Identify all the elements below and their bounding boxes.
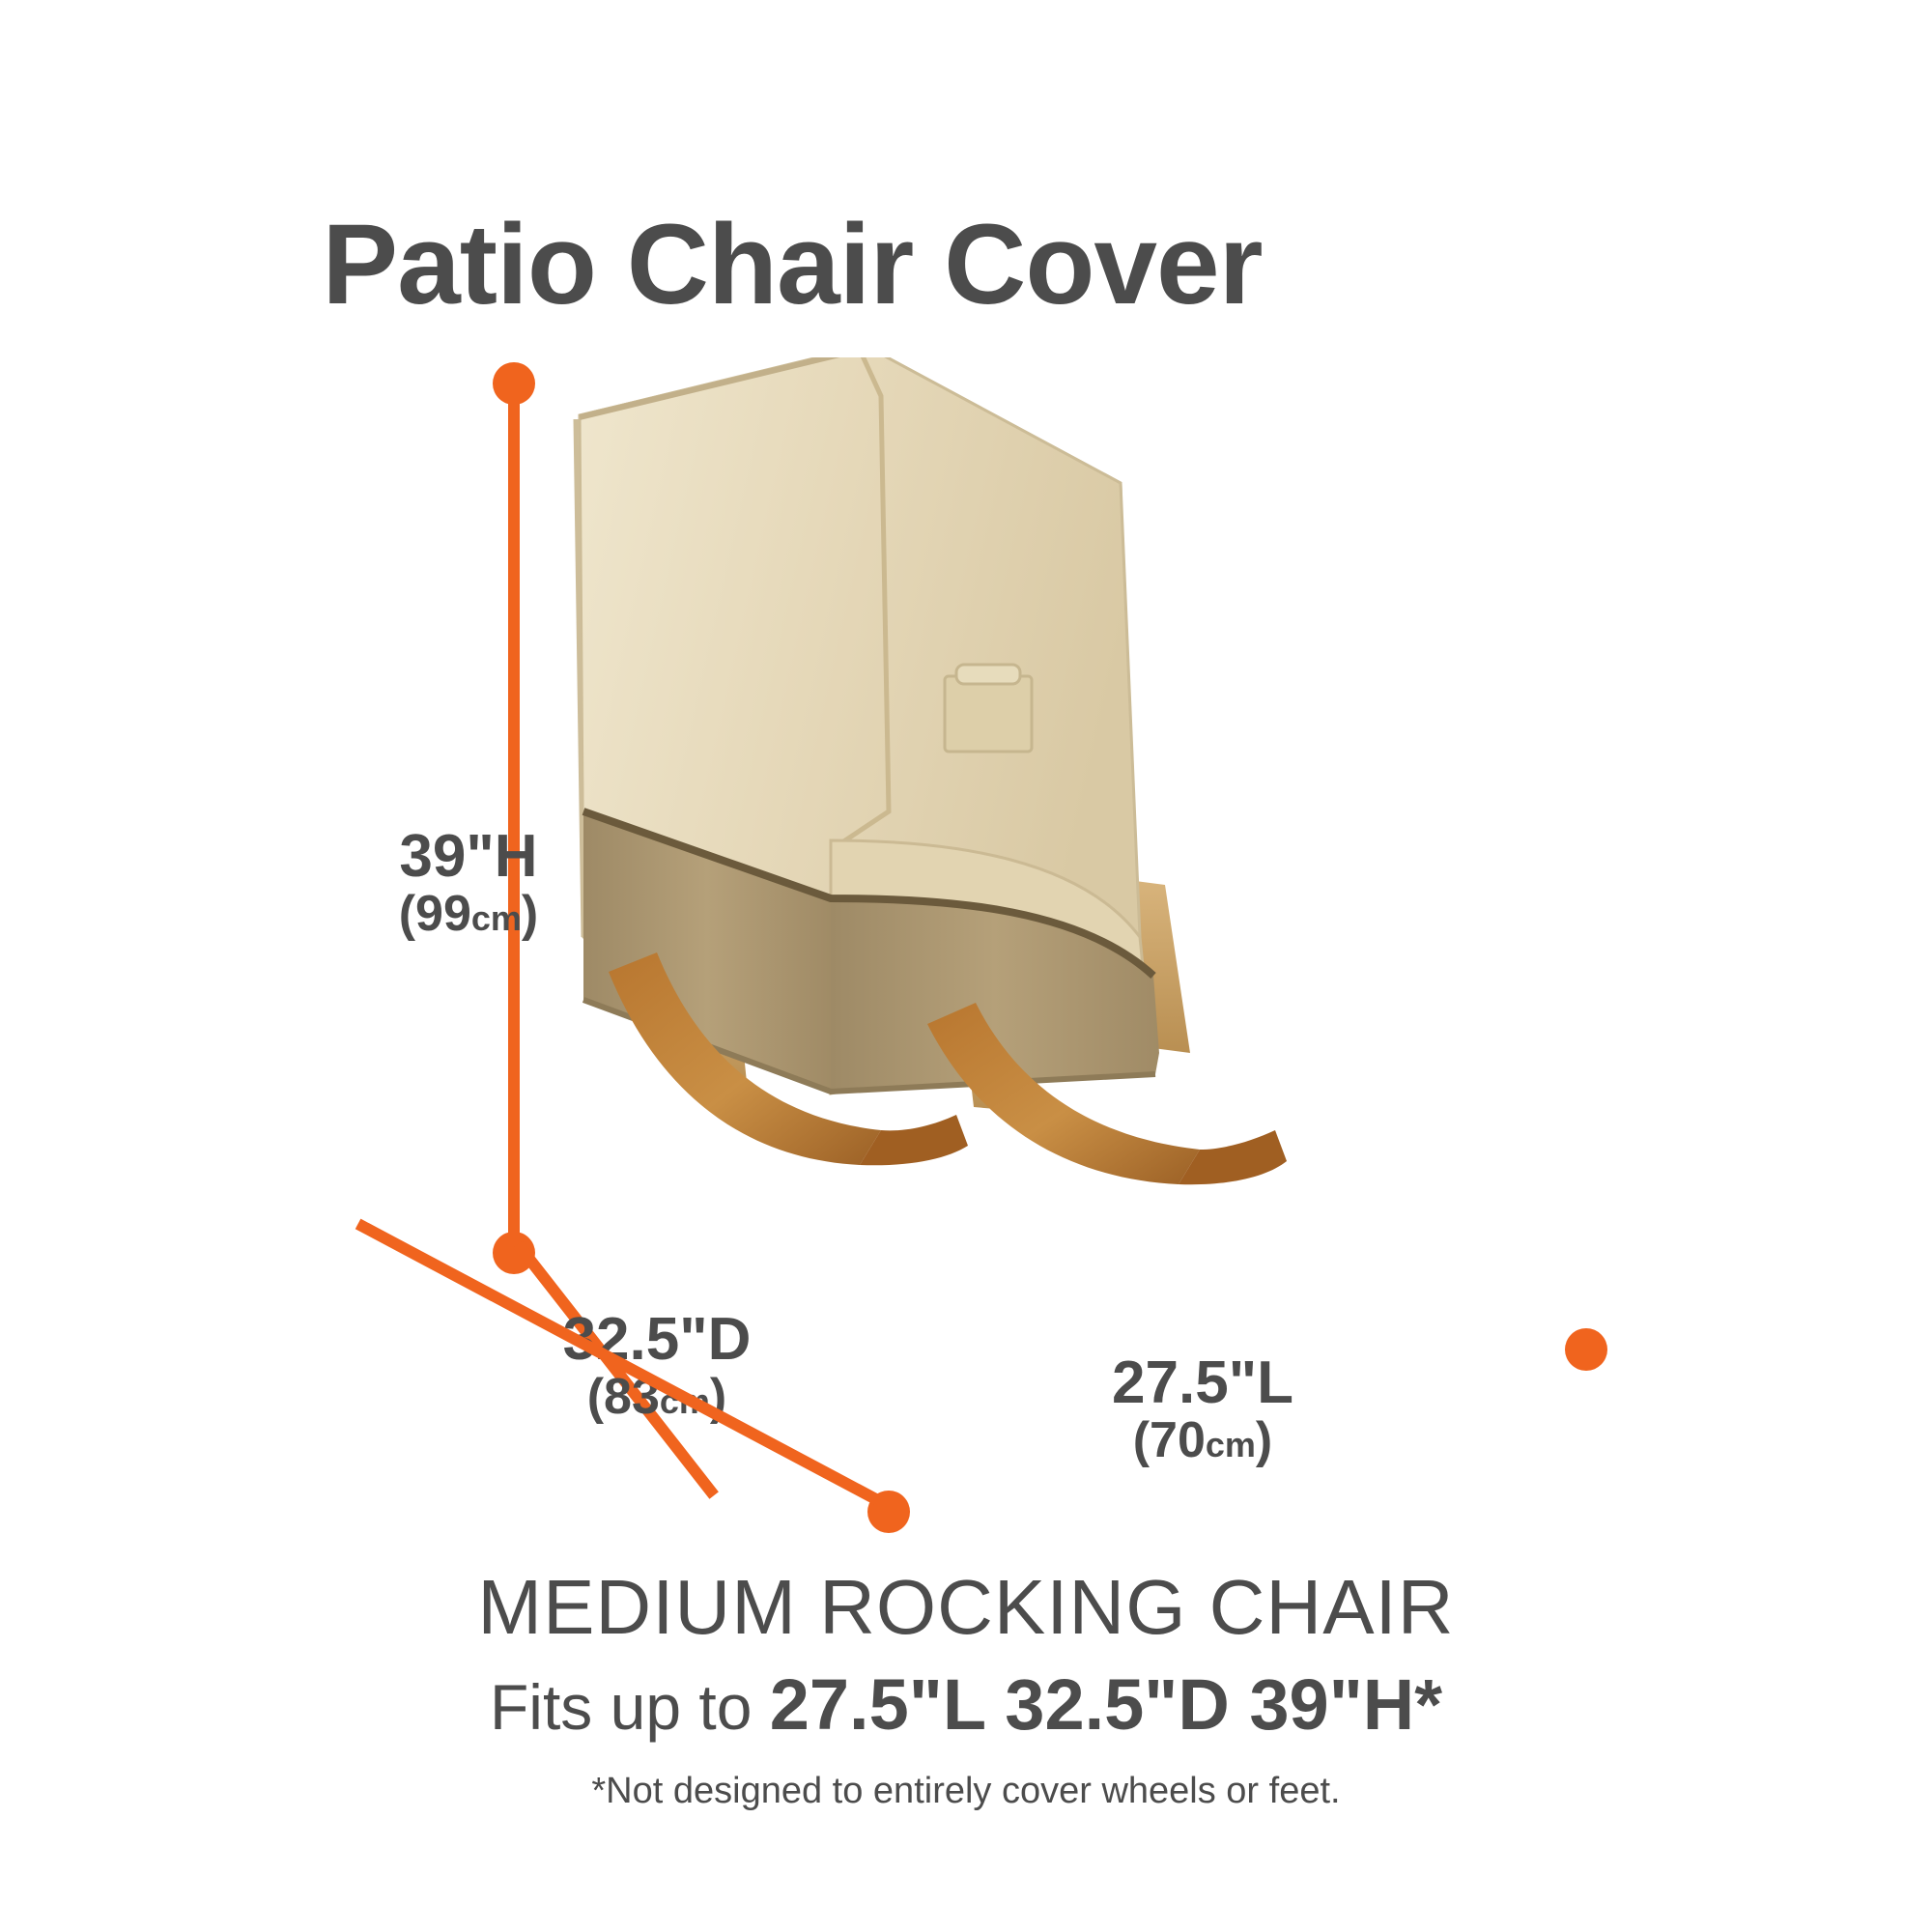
height-dim-label: 39"H (99cm) [357,826,580,941]
page-title: Patio Chair Cover [0,208,1584,322]
length-dim-label: 27.5"L (70cm) [1058,1352,1348,1467]
height-dim-value: 39"H [357,826,580,888]
fits-values: 27.5"L 32.5"D 39"H* [770,1664,1442,1745]
height-dim-metric: (99cm) [357,888,580,940]
length-dim-metric: (70cm) [1058,1414,1348,1466]
depth-dim-value: 32.5"D [522,1309,792,1371]
length-dim-dot-right [1565,1328,1607,1371]
fits-line: Fits up to 27.5"L 32.5"D 39"H* [0,1663,1932,1746]
footer-block: MEDIUM ROCKING CHAIR Fits up to 27.5"L 3… [0,1565,1932,1812]
rocking-chair-with-cover-illustration [541,357,1468,1381]
fits-prefix: Fits up to [490,1671,770,1743]
height-dim-line [508,384,520,1253]
product-size-heading: MEDIUM ROCKING CHAIR [0,1565,1932,1650]
length-dim-value: 27.5"L [1058,1352,1348,1414]
footnote: *Not designed to entirely cover wheels o… [0,1771,1932,1812]
